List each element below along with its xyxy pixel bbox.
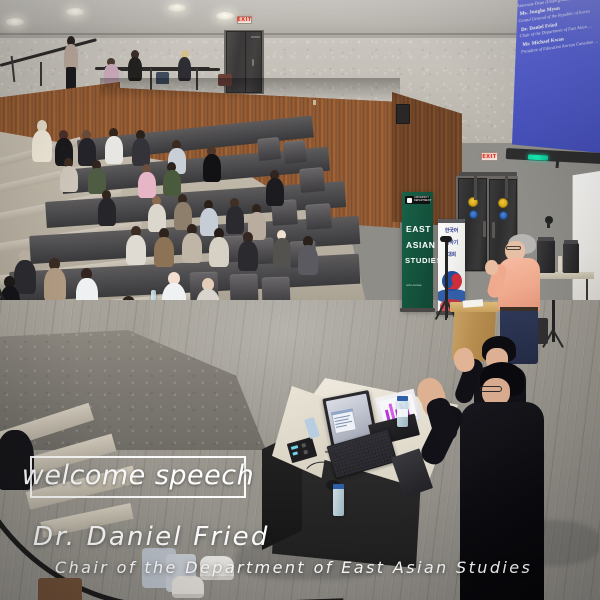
camera-mount [547, 222, 550, 228]
door-handle[interactable] [483, 221, 486, 237]
ceiling-downlight [168, 4, 186, 12]
banner-word-east: EAST [406, 225, 431, 234]
door-closer [474, 176, 477, 200]
bottle-label [397, 409, 408, 417]
audience-person [105, 128, 123, 170]
bottle-cap [397, 396, 408, 401]
cup-stack [558, 256, 562, 272]
bottle-cap [333, 484, 344, 489]
east-asian-studies-banner: UNIVERSITY DEPARTMENT EAST ASIAN STUDIES… [402, 192, 433, 310]
glasses-icon [480, 386, 502, 392]
ceiling-downlight [216, 12, 234, 20]
audience-person [32, 120, 52, 168]
door-push-bar[interactable] [459, 172, 517, 176]
balcony-person [64, 36, 80, 92]
lectern-paper [463, 299, 483, 307]
wall-outlet [313, 100, 316, 105]
sneaker [172, 576, 204, 598]
railing-post [40, 62, 42, 86]
exit-sign-upper-label: EXIT [237, 17, 252, 23]
ceiling-downlight [66, 8, 84, 16]
speaker-role-overlay: Chair of the Department of East Asian St… [55, 558, 532, 577]
seat[interactable] [257, 137, 281, 161]
audience-person [60, 158, 78, 198]
audience-person [203, 146, 221, 186]
wood-wall-shadow [100, 78, 400, 118]
projection-screen: Dr. Veronique … Associate Dean (Undergra… [512, 0, 600, 154]
water-bottle [333, 488, 344, 516]
korean-speech-contest-banner: 한국어 말하기 대회 [438, 219, 465, 313]
banner-footer: uofa.ca/eas [406, 284, 422, 287]
control-button[interactable] [301, 443, 306, 448]
door-sign-blue [499, 211, 508, 220]
exit-sign-lower-label: EXIT [482, 154, 497, 160]
speaker-belt [500, 307, 538, 311]
korean-banner-line-3: 대회 [438, 252, 465, 258]
banner-word-asian: ASIAN [406, 241, 435, 250]
korean-banner-line-1: 한국어 [438, 228, 465, 234]
bag [38, 578, 82, 600]
seat[interactable] [305, 203, 332, 230]
control-led [292, 451, 298, 455]
door-sign-blue [469, 210, 478, 219]
speaker-name-overlay: Dr. Daniel Fried [33, 522, 270, 552]
screen-mount-arm [555, 158, 559, 168]
audience-person [98, 190, 116, 232]
wall-speaker-box [396, 104, 410, 124]
banner-top-bar [438, 219, 465, 223]
door-sign-yellow [498, 198, 508, 208]
ceiling-downlight [6, 18, 24, 26]
banner-word-studies: STUDIES [405, 257, 442, 265]
coffee-urn [563, 243, 579, 273]
audience-person [273, 230, 291, 272]
audience-person [298, 236, 318, 282]
exit-sign-lower: EXIT [481, 152, 498, 161]
door-closer [505, 176, 508, 198]
tripod-leg [445, 300, 447, 320]
audience-person [238, 232, 258, 278]
speaker-hand [485, 260, 498, 275]
coffee-urn-lid [564, 240, 578, 244]
welcome-speech-title-box: welcome speech [30, 456, 246, 498]
projector-status-led [528, 154, 548, 160]
lecture-hall-photo: EXIT Dr. Veroni [0, 0, 600, 600]
control-led [291, 445, 299, 450]
speaker-stand-pole [552, 300, 555, 342]
logo-line-2: DEPARTMENT [414, 200, 431, 203]
banner-base [400, 308, 435, 312]
ceiling-seam [0, 33, 600, 35]
exit-sign-upper: EXIT [237, 16, 252, 24]
seat[interactable] [299, 167, 325, 193]
glasses-icon [506, 246, 521, 250]
mic-head [440, 236, 452, 242]
control-button[interactable] [303, 450, 308, 455]
logo-mark [407, 198, 412, 203]
welcome-speech-title: welcome speech [22, 462, 254, 489]
department-logo: UNIVERSITY DEPARTMENT [405, 196, 430, 204]
audience-person [266, 170, 284, 212]
seat[interactable] [283, 140, 307, 164]
